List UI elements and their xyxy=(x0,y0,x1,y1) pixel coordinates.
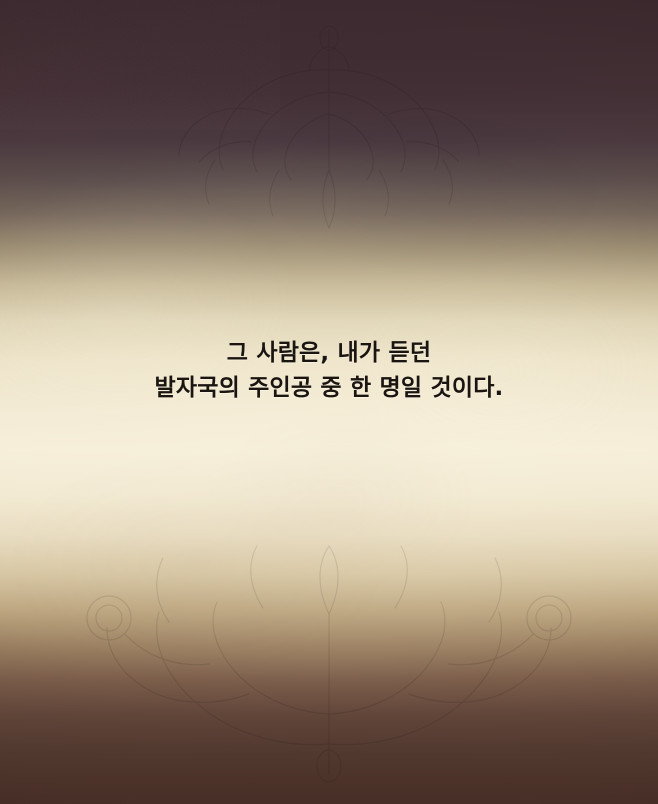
quote-line-1: 그 사람은, 내가 듣던 xyxy=(0,336,658,371)
paper-grain-texture xyxy=(0,0,280,130)
quote-card: 그 사람은, 내가 듣던 발자국의 주인공 중 한 명일 것이다. xyxy=(0,0,658,804)
paper-mottling xyxy=(0,0,658,804)
damask-ornament-top xyxy=(119,10,539,260)
edge-vignette xyxy=(0,0,658,804)
quote-text-block: 그 사람은, 내가 듣던 발자국의 주인공 중 한 명일 것이다. xyxy=(0,336,658,406)
quote-line-2: 발자국의 주인공 중 한 명일 것이다. xyxy=(0,371,658,406)
damask-ornament-bottom xyxy=(49,544,609,804)
